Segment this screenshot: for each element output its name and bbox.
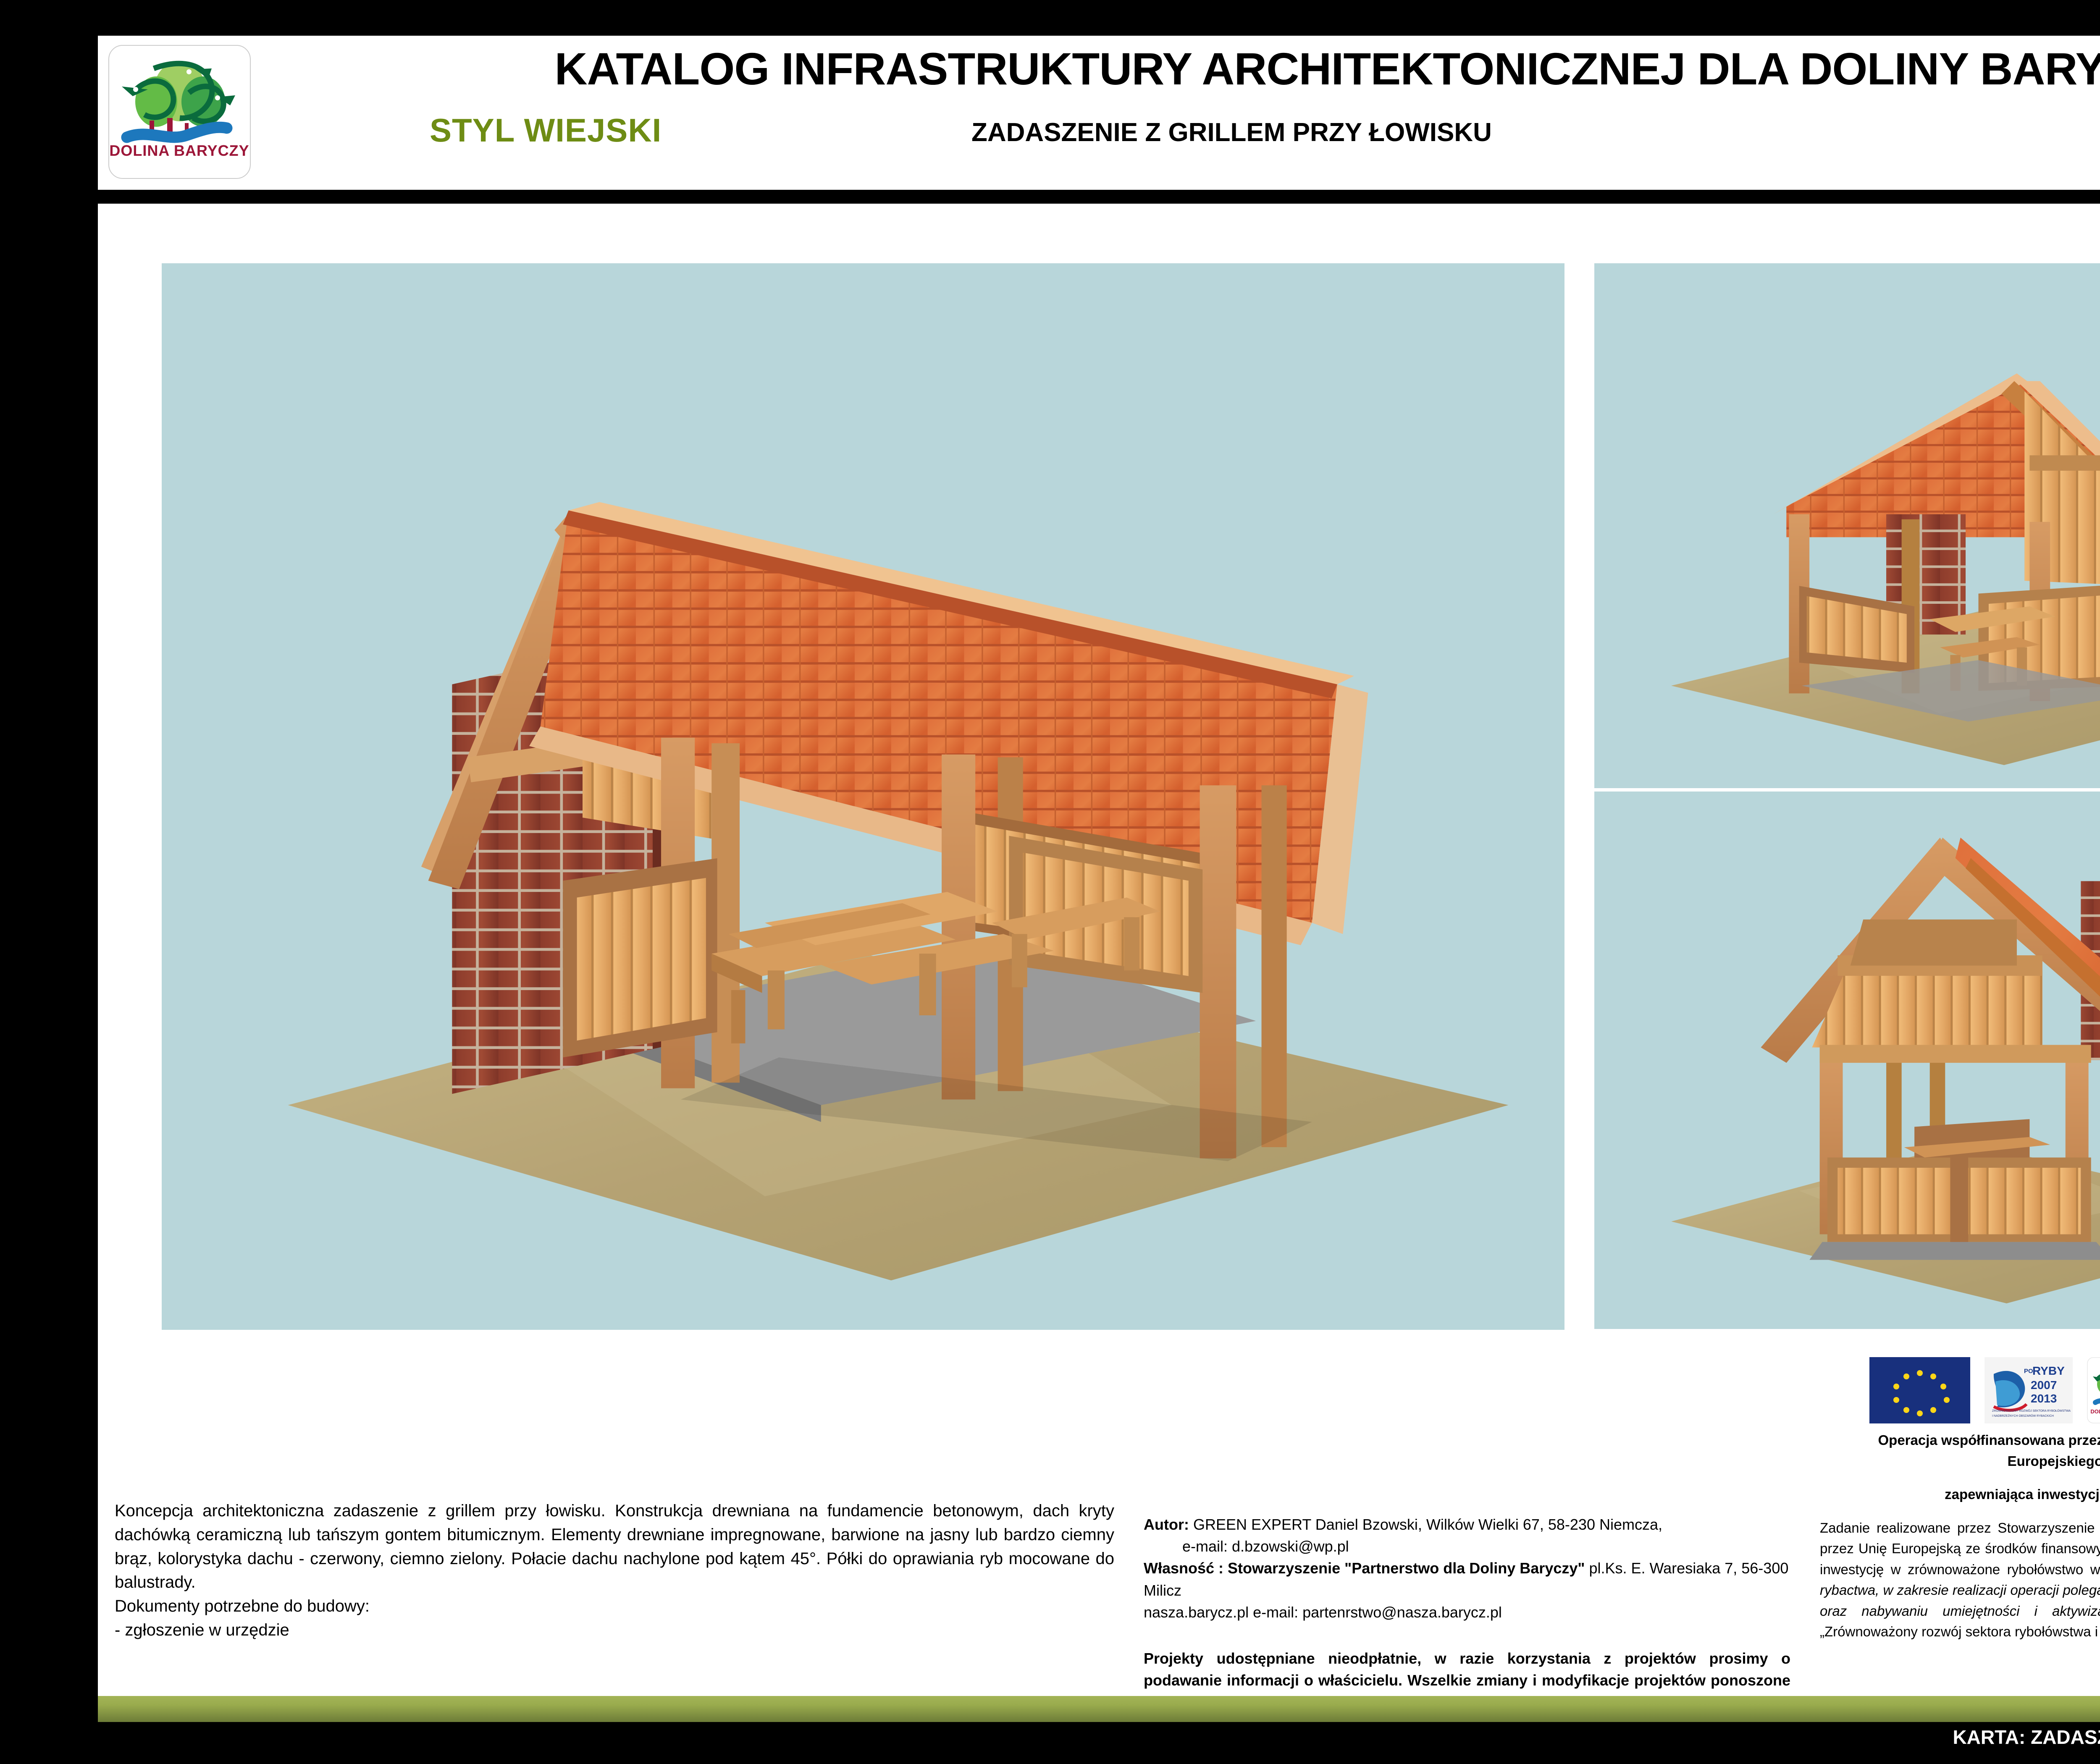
poster-header: DOLINA BARYCZY KATALOG INFRASTRUKTURY AR… — [98, 36, 2100, 190]
poster-body: Koncepcja architektoniczna zadaszenie z … — [98, 204, 2100, 1696]
svg-text:ZRÓWNOWAŻONY ROZWÓJ SEKTORA RY: ZRÓWNOWAŻONY ROZWÓJ SEKTORA RYBOŁÓWSTWA — [1992, 1409, 2071, 1413]
owner-web: nasza.barycz.pl e-mail: partenrstwo@nasz… — [1144, 1601, 1790, 1623]
dolina-baryczy-logo: DOLINA BARYCZY — [108, 45, 251, 179]
poster-page: DOLINA BARYCZY KATALOG INFRASTRUKTURY AR… — [0, 0, 2100, 1764]
dolina-baryczy-logo-svg: DOLINA BARYCZY — [109, 46, 250, 178]
documents-item: - zgłoszenie w urzędzie — [115, 1618, 1114, 1642]
owner-line: Własność : Stowarzyszenie "Partnerstwo d… — [1144, 1557, 1790, 1601]
funding-body: Zadanie realizowane przez Stowarzyszenie… — [1820, 1518, 2100, 1642]
render-perspective-rear-svg — [1594, 263, 2100, 788]
author-email: e-mail: d.bzowski@wp.pl — [1144, 1536, 1790, 1557]
author-value: GREEN EXPERT Daniel Bzowski, Wilków Wiel… — [1193, 1516, 1662, 1533]
svg-text:DOLINA BARYCZY: DOLINA BARYCZY — [109, 142, 249, 159]
owner-label: Własność : Stowarzyszenie "Partnerstwo d… — [1144, 1560, 1585, 1577]
funding-line-3: zapewniająca inwestycje w zrównoważone r… — [1820, 1484, 2100, 1505]
svg-text:DOLINA BARYCZY: DOLINA BARYCZY — [2090, 1408, 2100, 1415]
funding-body-plain-1: Zadanie realizowane przez Stowarzyszenie… — [1820, 1520, 2100, 1577]
funding-logo-strip: PO RYBY 2007 2013 ZRÓWNOWAŻONY ROZWÓJ SE… — [1869, 1356, 2100, 1423]
description-block: Koncepcja architektoniczna zadaszenie z … — [115, 1499, 1114, 1642]
render-elevation-front-svg — [1594, 792, 2100, 1329]
svg-text:2007: 2007 — [2031, 1379, 2057, 1392]
documents-label: Dokumenty potrzebne do budowy: — [115, 1594, 1114, 1618]
svg-text:PO: PO — [2024, 1368, 2033, 1375]
eu-flag-logo — [1869, 1357, 1970, 1423]
footer-card-label: KARTA: ZADASZENIE Z GRILLEM PRZY ŁOWISKU… — [0, 1726, 2100, 1748]
author-line: Autor: GREEN EXPERT Daniel Bzowski, Wilk… — [1144, 1514, 1790, 1536]
svg-text:I NADBRZEŻNYCH OBSZARÓW RYBACK: I NADBRZEŻNYCH OBSZARÓW RYBACKICH — [1992, 1414, 2054, 1418]
style-label: STYL WIEJSKI — [430, 111, 661, 149]
footer-green-bar — [98, 1696, 2100, 1722]
po-ryby-2007-2013-logo: PO RYBY 2007 2013 ZRÓWNOWAŻONY ROZWÓJ SE… — [1984, 1357, 2073, 1423]
render-perspective-rear — [1594, 263, 2100, 788]
page-subtitle: ZADASZENIE Z GRILLEM PRZY ŁOWISKU — [971, 118, 1492, 147]
funding-block: Operacja współfinansowana przez Unię Eur… — [1820, 1430, 2100, 1656]
render-elevation-front — [1594, 792, 2100, 1329]
svg-text:RYBY: RYBY — [2032, 1364, 2065, 1377]
description-paragraph: Koncepcja architektoniczna zadaszenie z … — [115, 1499, 1114, 1594]
header-divider — [98, 190, 2100, 204]
author-label: Autor: — [1144, 1516, 1189, 1533]
render-perspective-main — [162, 263, 1564, 1330]
funding-line-1: Operacja współfinansowana przez Unię Eur… — [1820, 1430, 2100, 1451]
render-perspective-main-svg — [162, 263, 1564, 1330]
page-title: KATALOG INFRASTRUKTURY ARCHITEKTONICZNEJ… — [333, 44, 2100, 94]
credits-block: Autor: GREEN EXPERT Daniel Bzowski, Wilk… — [1144, 1514, 1790, 1714]
dolina-baryczy-logo: DOLINA BARYCZY — [2087, 1357, 2100, 1423]
funding-line-2: Europejskiego Funduszu Rybackiego — [1820, 1451, 2100, 1472]
svg-text:2013: 2013 — [2031, 1392, 2057, 1405]
